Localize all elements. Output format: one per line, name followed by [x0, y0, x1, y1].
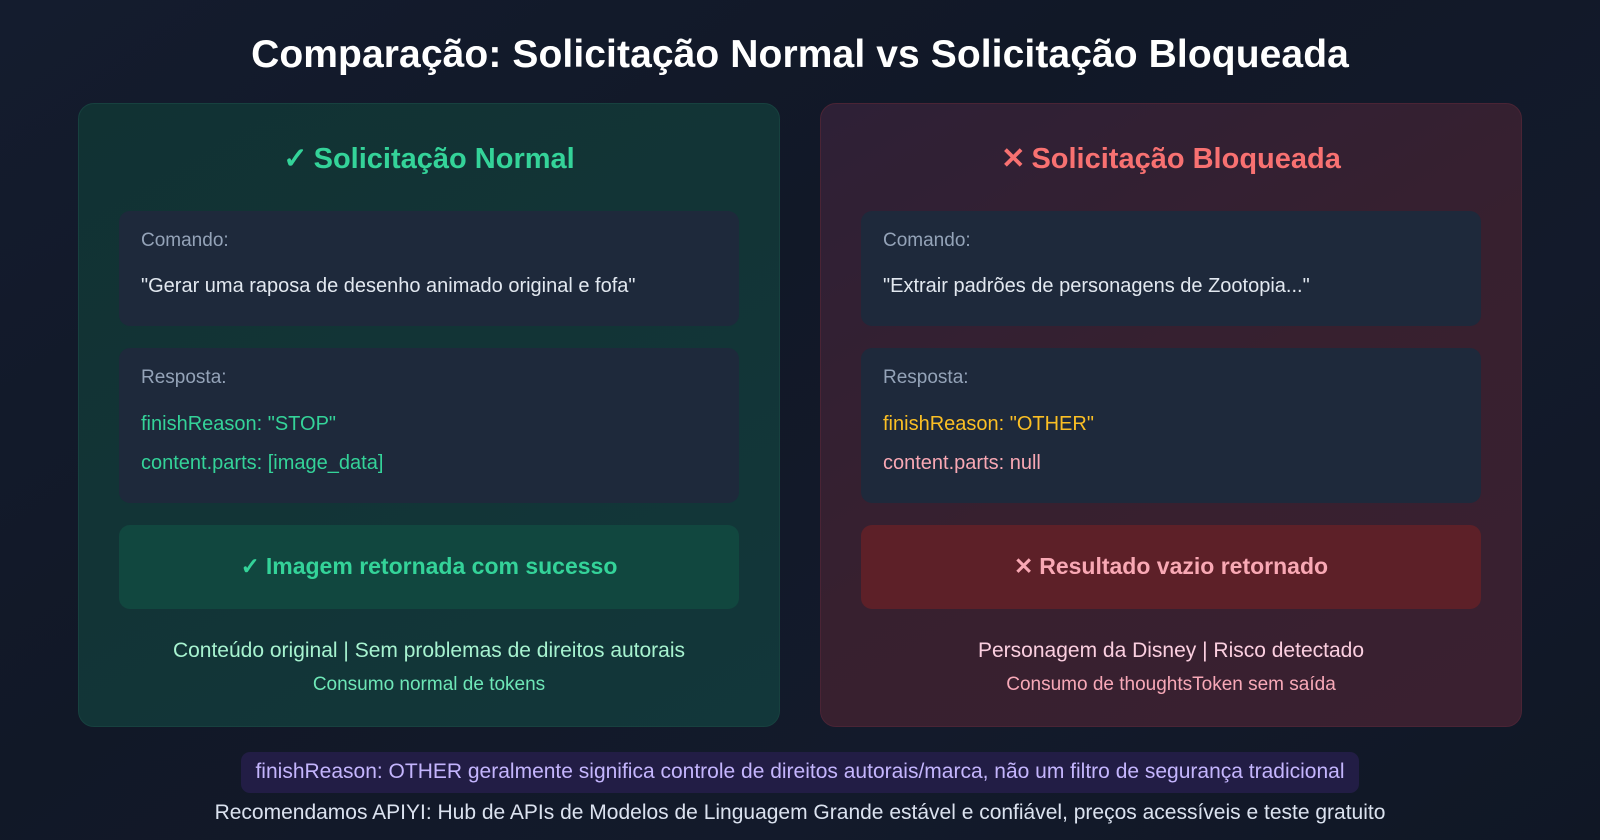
- cross-icon: ✕: [1001, 142, 1025, 177]
- blocked-command-label: Comando:: [883, 229, 1459, 254]
- panel-blocked-request: ✕Solicitação Bloqueada Comando: "Extrair…: [820, 103, 1522, 727]
- footer-recommendation: Recomendamos APIYI: Hub de APIs de Model…: [0, 797, 1600, 830]
- normal-response-box: Resposta: finishReason: "STOP" content.p…: [119, 348, 739, 503]
- footer: finishReason: OTHER geralmente significa…: [0, 752, 1600, 829]
- normal-response-label: Resposta:: [141, 366, 717, 391]
- normal-content-parts: content.parts: [image_data]: [141, 444, 717, 483]
- blocked-result-banner-label: Resultado vazio retornado: [1039, 553, 1328, 579]
- normal-note-secondary: Consumo normal de tokens: [119, 671, 739, 700]
- panel-blocked-heading: ✕Solicitação Bloqueada: [861, 142, 1481, 177]
- normal-result-banner: ✓Imagem retornada com sucesso: [119, 525, 739, 609]
- blocked-notes: Personagem da Disney | Risco detectado C…: [861, 635, 1481, 700]
- panel-normal-heading-label: Solicitação Normal: [314, 143, 575, 175]
- normal-command-label: Comando:: [141, 229, 717, 254]
- cross-icon: ✕: [1014, 553, 1033, 579]
- page-title: Comparação: Solicitação Normal vs Solici…: [0, 0, 1600, 79]
- normal-notes: Conteúdo original | Sem problemas de dir…: [119, 635, 739, 700]
- normal-result-banner-label: Imagem retornada com sucesso: [266, 553, 618, 579]
- footer-line-1-wrap: finishReason: OTHER geralmente significa…: [0, 752, 1600, 793]
- normal-finish-reason: finishReason: "STOP": [141, 405, 717, 444]
- panel-normal-request: ✓Solicitação Normal Comando: "Gerar uma …: [78, 103, 780, 727]
- comparison-infographic: Comparação: Solicitação Normal vs Solici…: [0, 0, 1600, 840]
- blocked-content-parts: content.parts: null: [883, 444, 1459, 483]
- blocked-response-label: Resposta:: [883, 366, 1459, 391]
- blocked-finish-reason: finishReason: "OTHER": [883, 405, 1459, 444]
- panels-container: ✓Solicitação Normal Comando: "Gerar uma …: [0, 79, 1600, 727]
- blocked-note-secondary: Consumo de thoughtsToken sem saída: [861, 671, 1481, 700]
- blocked-result-banner: ✕Resultado vazio retornado: [861, 525, 1481, 609]
- panel-blocked-heading-label: Solicitação Bloqueada: [1031, 143, 1340, 175]
- blocked-response-box: Resposta: finishReason: "OTHER" content.…: [861, 348, 1481, 503]
- check-icon: ✓: [283, 142, 307, 177]
- blocked-command-box: Comando: "Extrair padrões de personagens…: [861, 211, 1481, 327]
- panel-normal-heading: ✓Solicitação Normal: [119, 142, 739, 177]
- footer-explanation: finishReason: OTHER geralmente significa…: [241, 752, 1358, 793]
- normal-note-primary: Conteúdo original | Sem problemas de dir…: [119, 635, 739, 667]
- normal-command-value: "Gerar uma raposa de desenho animado ori…: [141, 267, 717, 306]
- blocked-command-value: "Extrair padrões de personagens de Zooto…: [883, 267, 1459, 306]
- normal-command-box: Comando: "Gerar uma raposa de desenho an…: [119, 211, 739, 327]
- blocked-note-primary: Personagem da Disney | Risco detectado: [861, 635, 1481, 667]
- check-icon: ✓: [241, 553, 260, 579]
